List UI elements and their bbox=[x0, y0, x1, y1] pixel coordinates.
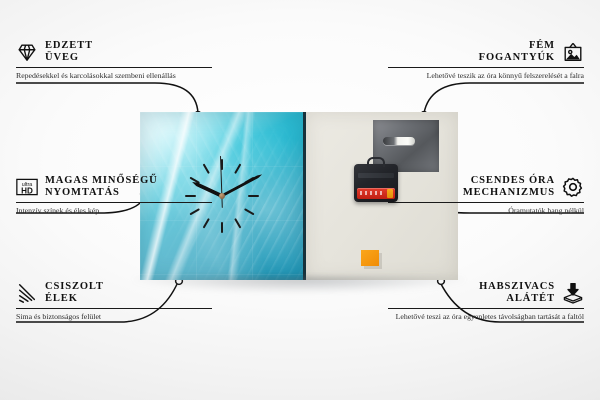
callout-divider bbox=[16, 308, 212, 309]
callout-title-line: ÉLEK bbox=[45, 293, 78, 305]
callout-title-line: EDZETT bbox=[45, 40, 93, 52]
product-infographic: EDZETT ÜVEG Repedésekkel és karcolásokka… bbox=[0, 0, 600, 400]
hands-cap bbox=[219, 193, 225, 199]
hanger-slot bbox=[383, 137, 415, 145]
connector-metal-handles bbox=[424, 83, 584, 113]
callout-title-line: CSENDES ÓRA bbox=[471, 175, 555, 187]
callout-title-line: MAGAS MINŐSÉGŰ bbox=[45, 175, 158, 187]
callout-title-line: FOGANTYÚK bbox=[479, 52, 555, 64]
callout-hd-print: ultra HD MAGAS MINŐSÉGŰ NYOMTATÁS Intenz… bbox=[16, 175, 212, 216]
callout-divider bbox=[16, 67, 212, 68]
connector-tempered-glass bbox=[16, 83, 198, 113]
ultra-hd-icon: ultra HD bbox=[16, 176, 38, 198]
callout-divider bbox=[388, 202, 584, 203]
callout-polished-edges: CSISZOLT ÉLEK Sima és biztonságos felüle… bbox=[16, 281, 212, 322]
callout-divider bbox=[388, 308, 584, 309]
foam-pad bbox=[361, 250, 379, 266]
svg-text:HD: HD bbox=[21, 186, 33, 195]
callout-description: Lehetővé teszi az óra egyenletes távolsá… bbox=[388, 312, 584, 323]
callout-title-line: FÉM bbox=[529, 40, 555, 52]
callout-metal-handles: FÉM FOGANTYÚK Lehetővé teszik az óra kön… bbox=[388, 40, 584, 81]
callout-title-line: CSISZOLT bbox=[45, 281, 104, 293]
callout-title-line: ÜVEG bbox=[45, 52, 79, 64]
callout-description: Lehetővé teszik az óra könnyű felszerelé… bbox=[388, 71, 584, 82]
mechanism-loop bbox=[367, 157, 385, 167]
callout-description: Sima és biztonságos felület bbox=[16, 312, 212, 323]
callout-title-line: NYOMTATÁS bbox=[45, 187, 120, 199]
callout-description: Intenzív színek és éles kép bbox=[16, 206, 212, 217]
callout-divider bbox=[16, 202, 212, 203]
polished-edges-icon bbox=[16, 282, 38, 304]
diamond-icon bbox=[16, 41, 38, 63]
callout-silent-clock: CSENDES ÓRA MECHANIZMUS Óramutatók hang … bbox=[388, 175, 584, 216]
callout-title-line: ALÁTÉT bbox=[506, 293, 555, 305]
callout-description: Óramutatók hang nélkül bbox=[388, 206, 584, 217]
callout-title-line: MECHANIZMUS bbox=[463, 187, 555, 199]
picture-hanger-icon bbox=[562, 41, 584, 63]
callout-foam-pad: HABSZIVACS ALÁTÉT Lehetővé teszi az óra … bbox=[388, 281, 584, 322]
callout-tempered-glass: EDZETT ÜVEG Repedésekkel és karcolásokka… bbox=[16, 40, 212, 81]
callout-title-line: HABSZIVACS bbox=[479, 281, 555, 293]
callout-description: Repedésekkel és karcolásokkal szembeni e… bbox=[16, 71, 212, 82]
gear-icon bbox=[562, 176, 584, 198]
callout-divider bbox=[388, 67, 584, 68]
foam-pad-icon bbox=[562, 282, 584, 304]
